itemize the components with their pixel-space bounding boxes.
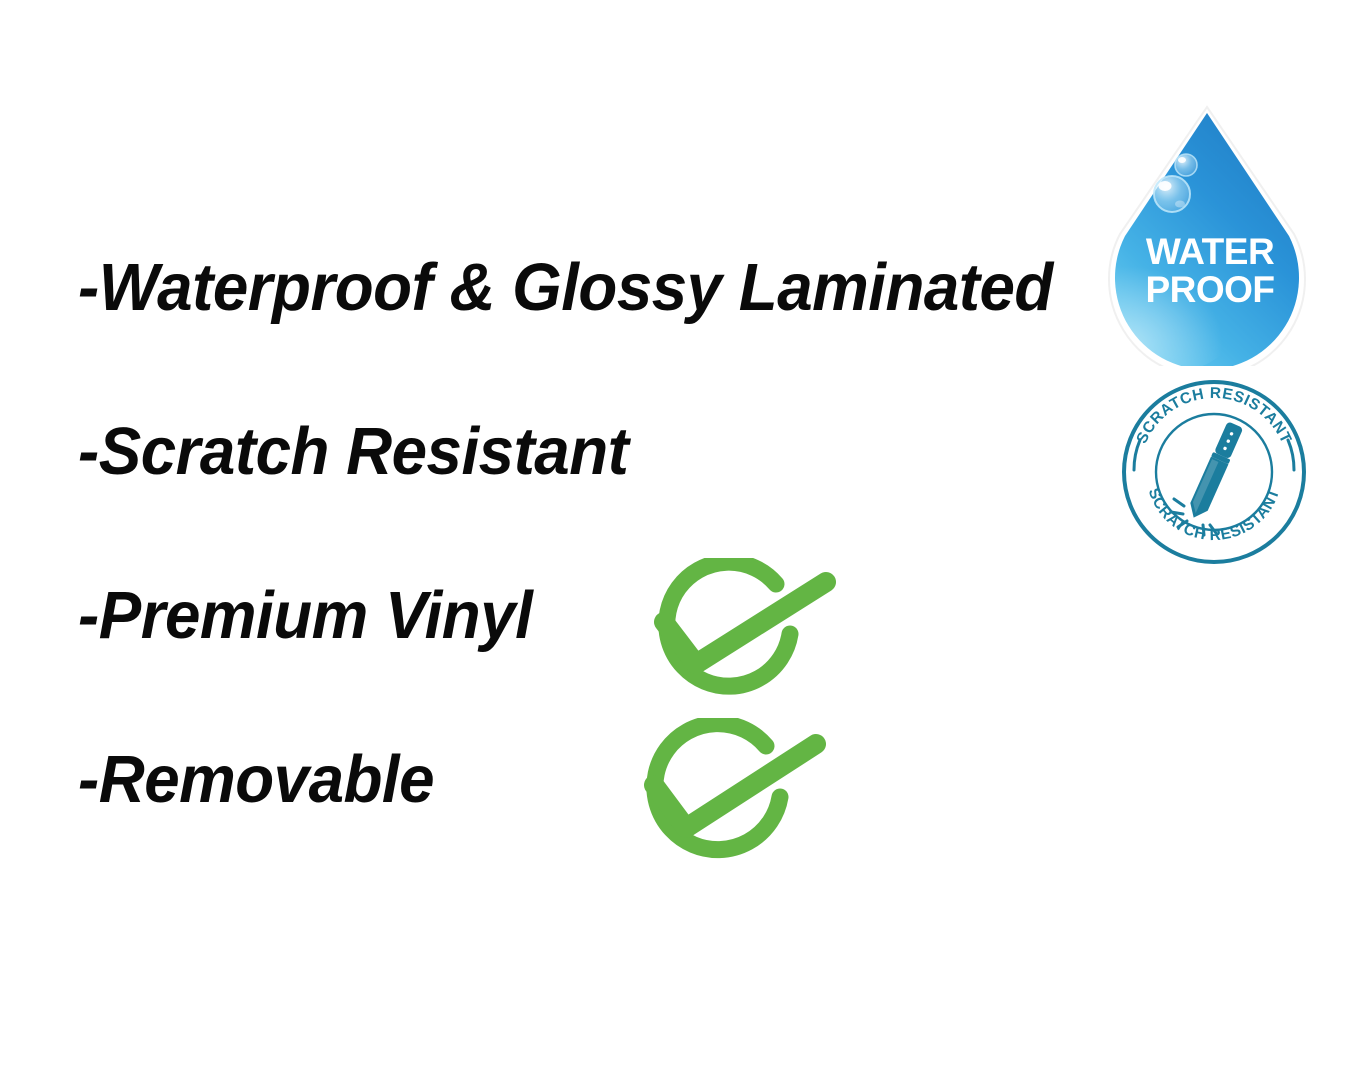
list-item: -Waterproof & Glossy Laminated bbox=[78, 248, 1108, 412]
list-item: -Removable bbox=[78, 740, 1108, 904]
scratch-text-top: SCRATCH RESISTANT bbox=[1133, 385, 1294, 446]
waterproof-line-1: WATER bbox=[1146, 231, 1274, 272]
list-item: -Premium Vinyl bbox=[78, 576, 1108, 740]
waterproof-line-2: PROOF bbox=[1145, 269, 1274, 310]
ring-dash-right bbox=[1288, 440, 1294, 470]
feature-label-removable: -Removable bbox=[78, 740, 434, 820]
feature-list: -Waterproof & Glossy Laminated -Scratch … bbox=[78, 248, 1108, 904]
check-circle-icon bbox=[630, 718, 826, 878]
bubble-icon bbox=[1154, 176, 1190, 212]
ring-dash-left bbox=[1134, 440, 1140, 470]
waterproof-badge: WATER PROOF bbox=[1108, 104, 1313, 366]
feature-label-premium-vinyl: -Premium Vinyl bbox=[78, 576, 532, 656]
list-item: -Scratch Resistant bbox=[78, 412, 1108, 576]
knife-icon bbox=[1185, 421, 1244, 522]
scratch-resistant-badge: SCRATCH RESISTANT SCRATCH RESISTANT bbox=[1120, 378, 1308, 566]
feature-label-scratch-resistant: -Scratch Resistant bbox=[78, 412, 628, 492]
feature-label-waterproof: -Waterproof & Glossy Laminated bbox=[78, 248, 1053, 328]
bubble-icon bbox=[1175, 154, 1197, 176]
check-circle-icon bbox=[640, 558, 836, 714]
